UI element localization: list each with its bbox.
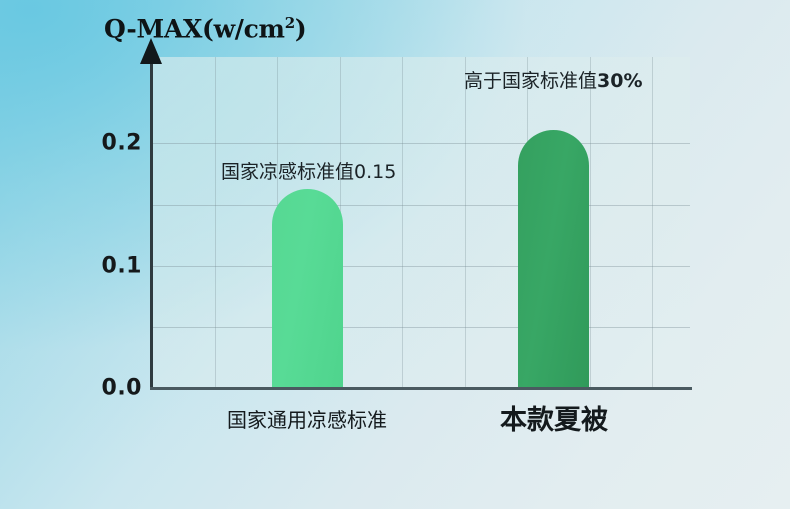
chart-title-tail: ) bbox=[295, 14, 307, 43]
annotation-1-text: 高于国家标准值 bbox=[464, 70, 597, 92]
y-tick-label-0.0: 0.0 bbox=[102, 376, 142, 401]
annotation-1-emphasis: 30% bbox=[597, 70, 642, 92]
gridline-vertical-8 bbox=[652, 57, 653, 388]
gridline-vertical-7 bbox=[590, 57, 591, 388]
y-tick-label-0.2: 0.2 bbox=[102, 131, 142, 156]
annotation-national-standard: 国家凉感标准值0.15 bbox=[221, 157, 396, 184]
gridline-vertical-1 bbox=[215, 57, 216, 388]
y-axis-arrow-icon bbox=[140, 38, 162, 64]
chart-figure: Q-MAX(w/cm2) 0.2 0.1 0.0 国家凉感标准值0.15 高于国… bbox=[0, 0, 790, 509]
gridline-horizontal-0.20 bbox=[152, 143, 690, 144]
gridline-horizontal-0.15 bbox=[152, 205, 690, 206]
annotation-above-standard: 高于国家标准值30% bbox=[464, 66, 643, 93]
gridline-horizontal-0.05 bbox=[152, 327, 690, 328]
category-label-this-quilt: 本款夏被 bbox=[404, 398, 704, 437]
annotation-0-text: 国家凉感标准值0.15 bbox=[221, 161, 396, 183]
y-axis-tick-labels: 0.2 0.1 0.0 bbox=[88, 0, 142, 509]
gridline-vertical-5 bbox=[465, 57, 466, 388]
gridline-vertical-4 bbox=[402, 57, 403, 388]
chart-title-superscript: 2 bbox=[285, 14, 295, 32]
bar-this-quilt bbox=[518, 130, 589, 388]
y-tick-label-0.1: 0.1 bbox=[102, 254, 142, 279]
x-axis-line bbox=[150, 387, 692, 390]
gridline-horizontal-0.10 bbox=[152, 266, 690, 267]
bar-national-standard bbox=[272, 189, 343, 388]
y-axis-line bbox=[150, 62, 153, 390]
plot-area bbox=[152, 57, 690, 388]
